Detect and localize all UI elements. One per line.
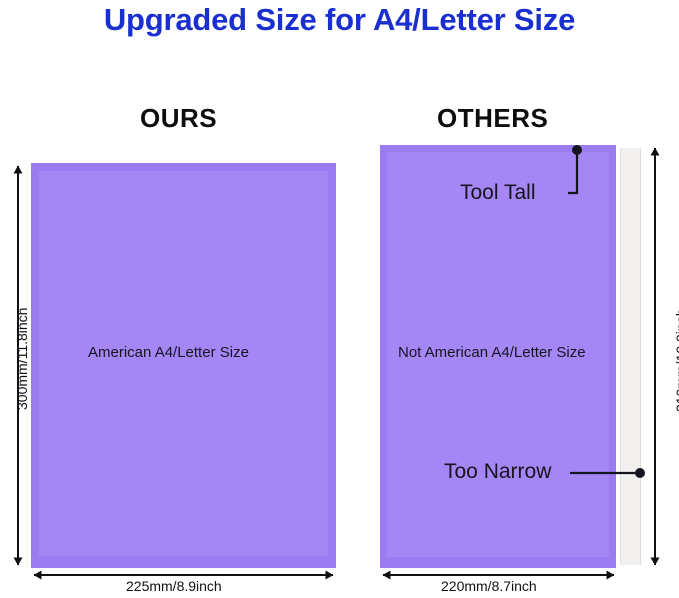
infographic-canvas: Upgraded Size for A4/Letter Size OURS OT… [0,0,679,598]
dim-label-height-ours: 300mm/11.8inch [14,308,30,410]
sleeve-label-others: Not American A4/Letter Size [398,344,586,361]
column-heading-ours: OURS [140,103,217,134]
callout-label-too-tall: Tool Tall [460,181,536,205]
page-title: Upgraded Size for A4/Letter Size [0,2,679,38]
sleeve-label-ours: American A4/Letter Size [88,344,249,361]
product-sleeve-ours [31,163,336,568]
dim-label-width-ours: 225mm/8.9inch [126,578,222,594]
callout-label-too-narrow: Too Narrow [444,460,551,484]
column-heading-others: OTHERS [437,103,548,134]
sleeve-inner-face-ours [39,171,328,556]
dim-label-width-others: 220mm/8.7inch [441,578,537,594]
dim-label-height-others: 310mm/12.2inch [673,308,679,412]
paper-sheet-strip-others [620,148,641,565]
